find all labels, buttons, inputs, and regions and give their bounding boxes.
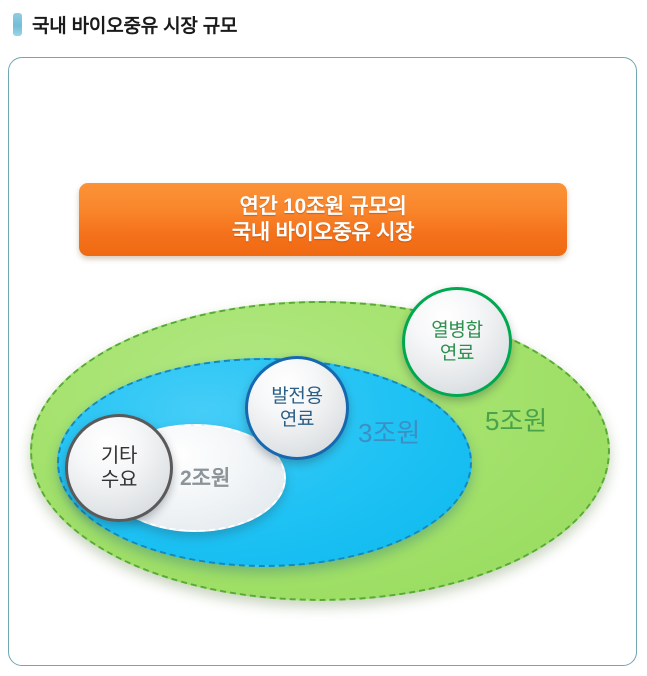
venn-node-other-demand-line-1: 기타	[101, 444, 137, 468]
title-marker-icon	[13, 13, 22, 36]
venn-region-outer-value: 5조원	[485, 401, 547, 438]
headline-banner-line-1: 연간 10조원 규모의	[240, 194, 407, 220]
page-header: 국내 바이오중유 시장 규모	[0, 0, 647, 48]
venn-region-middle-value: 3조원	[358, 413, 420, 450]
venn-node-cogeneration-fuel: 열병합 연료	[402, 287, 512, 397]
headline-banner: 연간 10조원 규모의 국내 바이오중유 시장	[79, 183, 567, 256]
venn-node-power-generation-fuel-line-1: 발전용	[271, 385, 323, 408]
venn-node-power-generation-fuel: 발전용 연료	[245, 356, 349, 460]
venn-node-cogeneration-fuel-line-2: 연료	[440, 342, 474, 365]
venn-region-inner-value: 2조원	[180, 462, 230, 492]
venn-node-cogeneration-fuel-line-1: 열병합	[431, 319, 483, 342]
page-title: 국내 바이오중유 시장 규모	[32, 11, 237, 38]
headline-banner-line-2: 국내 바이오중유 시장	[232, 220, 414, 246]
venn-node-power-generation-fuel-line-2: 연료	[280, 408, 314, 431]
venn-node-other-demand-line-2: 수요	[101, 468, 137, 492]
venn-node-other-demand: 기타 수요	[65, 414, 173, 522]
